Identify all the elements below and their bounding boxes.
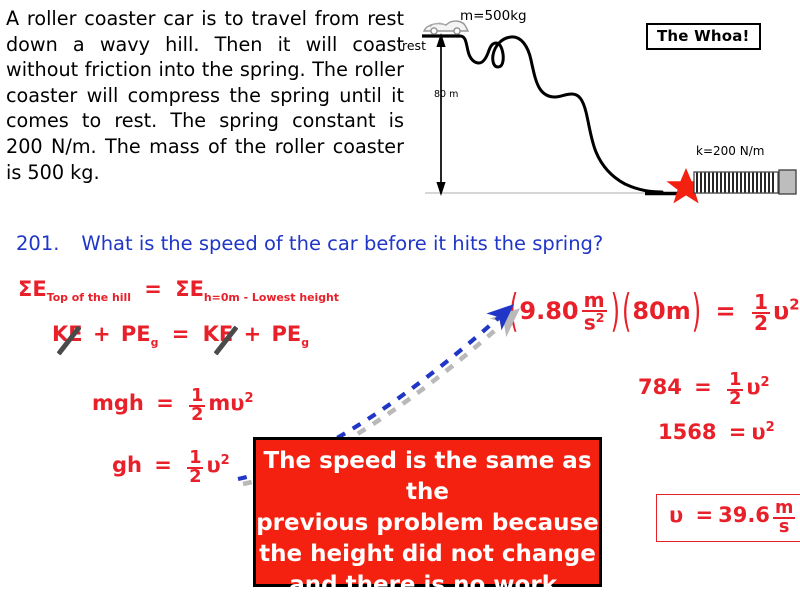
- answer-unit-denominator: s: [773, 517, 795, 536]
- eq5-equals: =: [716, 297, 736, 325]
- callout-line-1: The speed is the same as the: [256, 446, 599, 508]
- eq5-frac-denominator: 2: [752, 312, 770, 333]
- eq5-rhs-exponent: 2: [789, 296, 799, 314]
- question-text: What is the speed of the car before it h…: [81, 232, 603, 255]
- eq2-pe1-subscript: g: [151, 336, 159, 349]
- eq5-rhs: υ: [773, 297, 789, 325]
- eq3-frac-numerator: 1: [189, 388, 205, 405]
- slide-canvas: A roller coaster car is to travel from r…: [0, 0, 800, 600]
- height-arrow-head-down: [436, 182, 445, 196]
- eq3-fraction: 1 2: [189, 388, 205, 423]
- eq5-g-unit-den-exponent: 2: [596, 310, 605, 325]
- eq2-pe1: PE: [121, 322, 151, 346]
- problem-statement: A roller coaster car is to travel from r…: [6, 6, 404, 185]
- eq6-frac-denominator: 2: [727, 389, 743, 408]
- eq2-plus1: +: [93, 322, 111, 346]
- eq3-lhs: mgh: [92, 391, 144, 415]
- eq2-pe2: PE: [272, 322, 302, 346]
- equation-substituted: (9.80 m s2 )(80m) = 1 2 υ2: [508, 291, 800, 333]
- eq7-rhs: υ: [751, 420, 765, 444]
- eq4-equals: =: [154, 453, 172, 477]
- answer-unit-fraction: m s: [773, 500, 795, 535]
- eq5-height: 80m: [632, 297, 690, 325]
- equation-784: 784 = 1 2 υ2: [638, 372, 770, 407]
- eq5-g-unit-fraction: m s2: [582, 291, 607, 333]
- eq5-left-paren-open: (: [509, 285, 518, 337]
- eq6-rhs: υ: [746, 375, 760, 399]
- eq5-fraction: 1 2: [752, 293, 770, 333]
- answer-value: 39.6: [718, 503, 770, 527]
- answer-unit-numerator: m: [773, 500, 795, 517]
- eq3-frac-denominator: 2: [189, 405, 205, 424]
- roller-coaster-diagram: m=500kg rest 80 m k=200 N/m The Whoa!: [400, 0, 800, 222]
- eq4-lhs: gh: [112, 453, 142, 477]
- eq1-equals: =: [144, 277, 162, 301]
- callout-box: The speed is the same as the previous pr…: [253, 437, 602, 587]
- equation-gh: gh = 1 2 υ2: [112, 450, 230, 485]
- callout-line-4: and there is no work.: [256, 570, 599, 601]
- eq1-rhs-symbol: ΣE: [175, 277, 204, 301]
- eq2-equals: =: [172, 322, 190, 346]
- callout-line-2: previous problem because: [256, 508, 599, 539]
- callout-line-3: the height did not change: [256, 539, 599, 570]
- rest-label: rest: [402, 38, 426, 53]
- eq3-rhs: mυ: [208, 391, 244, 415]
- eq1-lhs-subscript: Top of the hill: [47, 291, 131, 304]
- answer-equals: =: [696, 503, 714, 527]
- title-box-the-whoa: The Whoa!: [646, 23, 761, 50]
- answer-symbol: υ: [669, 503, 683, 527]
- answer-expression: υ =39.6 m s: [669, 503, 798, 527]
- equation-1568: 1568 =υ2: [658, 420, 775, 444]
- eq7-lhs: 1568: [658, 420, 716, 444]
- eq5-g-unit-denominator: s2: [582, 310, 607, 333]
- eq4-frac-numerator: 1: [187, 450, 203, 467]
- mass-label: m=500kg: [460, 8, 527, 24]
- eq2-pe2-subscript: g: [301, 336, 309, 349]
- eq4-fraction: 1 2: [187, 450, 203, 485]
- spring-constant-label: k=200 N/m: [696, 144, 764, 158]
- height-label: 80 m: [434, 89, 458, 100]
- spring-end-block: [779, 170, 796, 194]
- equation-ke-pe: KE + PEg = KE + PEg: [52, 322, 309, 349]
- equation-sum-energy: ΣETop of the hill = ΣEh=0m - Lowest heig…: [18, 277, 339, 304]
- eq3-equals: =: [156, 391, 174, 415]
- eq6-rhs-exponent: 2: [761, 375, 770, 390]
- eq1-lhs-symbol: ΣE: [18, 277, 47, 301]
- eq2-plus2: +: [244, 322, 262, 346]
- question-number: 201.: [16, 232, 59, 255]
- eq5-right-paren-open: (: [622, 285, 631, 337]
- eq5-g-unit-numerator: m: [582, 291, 607, 310]
- equation-mgh: mgh = 1 2 mυ2: [92, 388, 254, 423]
- eq6-lhs: 784: [638, 375, 682, 399]
- eq5-g-unit-den-base: s: [584, 311, 596, 335]
- eq5-g-value: 9.80: [519, 297, 578, 325]
- eq5-right-paren-close: ): [692, 285, 701, 337]
- eq4-rhs-exponent: 2: [221, 453, 230, 468]
- answer-box: υ =39.6 m s: [656, 494, 800, 542]
- eq1-rhs-subscript: h=0m - Lowest height: [204, 291, 339, 304]
- eq4-frac-denominator: 2: [187, 467, 203, 486]
- eq7-equals: =: [729, 420, 747, 444]
- spring-coil: [694, 172, 778, 193]
- eq3-rhs-exponent: 2: [244, 391, 253, 406]
- eq5-frac-numerator: 1: [752, 293, 770, 312]
- question-line: 201.What is the speed of the car before …: [16, 232, 603, 255]
- eq6-frac-numerator: 1: [727, 372, 743, 389]
- eq6-fraction: 1 2: [727, 372, 743, 407]
- eq4-rhs: υ: [206, 453, 220, 477]
- eq7-rhs-exponent: 2: [766, 420, 775, 435]
- eq5-left-paren-close: ): [611, 285, 620, 337]
- hill-curve: [460, 36, 662, 192]
- eq6-equals: =: [694, 375, 712, 399]
